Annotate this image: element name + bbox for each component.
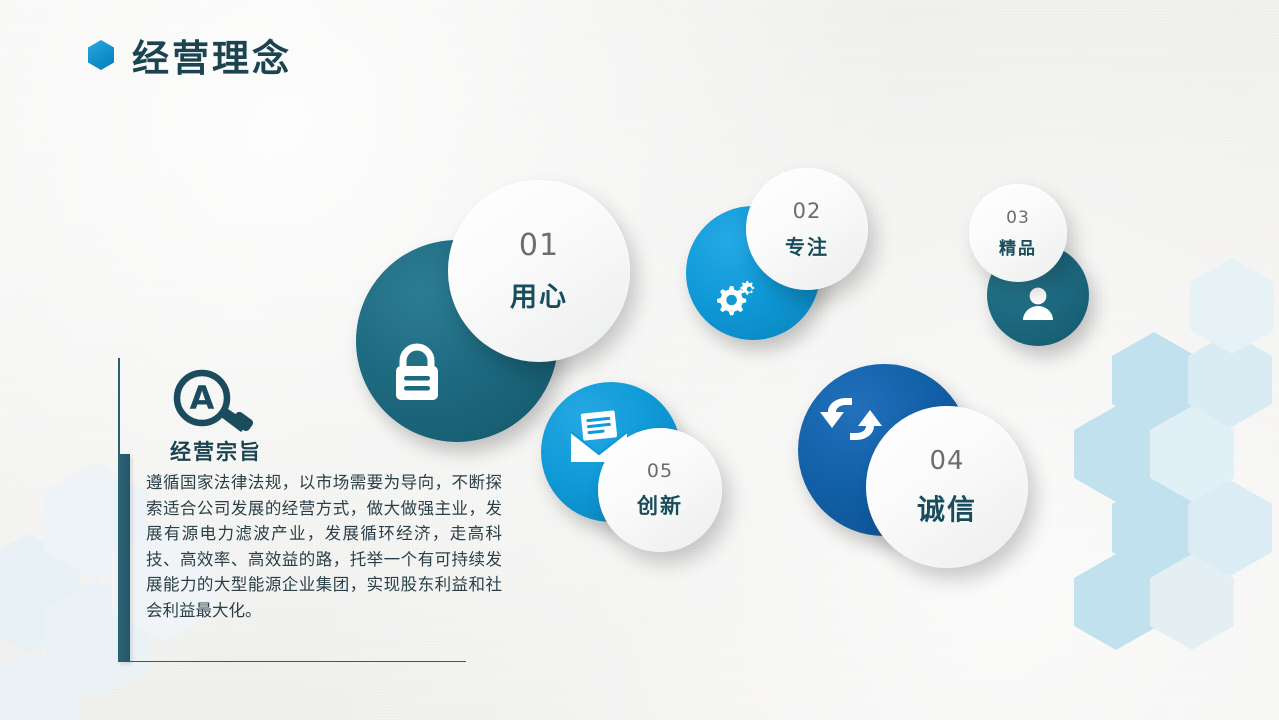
user-icon bbox=[1019, 286, 1057, 322]
concept-number-03: 03 bbox=[1006, 208, 1030, 228]
concept-number-02: 02 bbox=[793, 199, 822, 223]
exchange-arrows-icon bbox=[820, 390, 882, 448]
concept-label-02: 专注 bbox=[785, 231, 829, 260]
concept-number-05: 05 bbox=[647, 460, 673, 482]
hexagon-icon bbox=[1190, 258, 1274, 354]
hexagon-icon bbox=[1112, 332, 1196, 428]
concept-number-04: 04 bbox=[929, 446, 964, 476]
hexagon-icon bbox=[1188, 332, 1272, 428]
concept-label-circle-01[interactable]: 01 用心 bbox=[448, 180, 630, 362]
purpose-body-text: 遵循国家法律法规，以市场需要为导向，不断探索适合公司发展的经营方式，做大做强主业… bbox=[146, 470, 502, 623]
concept-label-01: 用心 bbox=[510, 275, 568, 314]
hexagon-icon bbox=[1150, 554, 1234, 650]
concept-label-circle-04[interactable]: 04 诚信 bbox=[866, 406, 1028, 568]
concept-number-01: 01 bbox=[519, 228, 559, 263]
concept-label-03: 精品 bbox=[999, 234, 1037, 259]
hexagon-icon bbox=[1074, 406, 1158, 502]
gears-icon bbox=[712, 278, 758, 318]
panel-accent-bar bbox=[118, 454, 130, 662]
concept-label-04: 诚信 bbox=[917, 488, 977, 528]
concept-label-circle-05[interactable]: 05 创新 bbox=[598, 428, 722, 552]
slide-header: 经营理念 bbox=[88, 28, 292, 82]
hexagon-icon bbox=[1112, 480, 1196, 576]
concept-label-05: 创新 bbox=[637, 490, 683, 520]
purpose-title: 经营宗旨 bbox=[170, 436, 470, 466]
page-title: 经营理念 bbox=[132, 28, 292, 82]
hexagon-icon bbox=[1150, 406, 1234, 502]
lock-icon bbox=[388, 342, 446, 404]
hexagon-icon bbox=[1188, 480, 1272, 576]
hexagon-icon bbox=[0, 534, 80, 652]
concept-label-circle-02[interactable]: 02 专注 bbox=[746, 168, 868, 290]
hexagon-icon bbox=[1074, 554, 1158, 650]
panel-top-rule bbox=[118, 358, 120, 456]
concept-label-circle-03[interactable]: 03 精品 bbox=[969, 184, 1067, 282]
magnifier-a-icon: A bbox=[170, 368, 262, 439]
slide-canvas: 经营理念 A 经营宗旨 遵循国家法律法规，以市场需要为导向，不断探索适合公司发展… bbox=[0, 0, 1279, 720]
svg-text:A: A bbox=[190, 379, 215, 417]
hexagon-bullet-icon bbox=[88, 40, 114, 70]
panel-bottom-rule bbox=[118, 661, 466, 663]
hexagon-icon bbox=[0, 652, 80, 720]
